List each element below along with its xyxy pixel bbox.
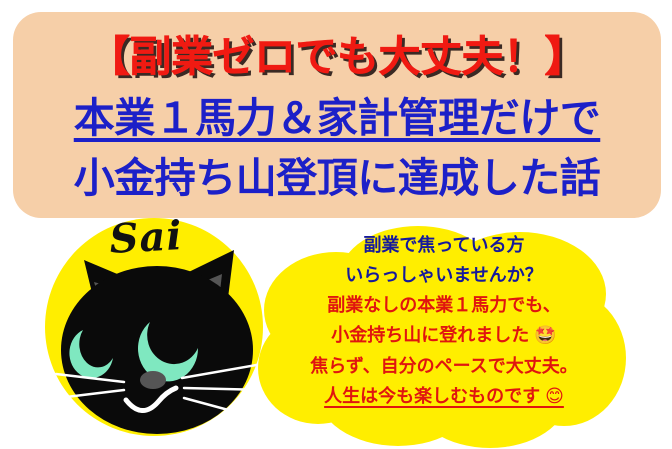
cat-mascot-illustration — [38, 222, 274, 444]
banner-headline-1: 【副業ゼロでも大丈夫！】 — [13, 36, 661, 78]
banner-headline-2: 本業１馬力＆家計管理だけで — [13, 98, 661, 139]
cat-nose — [140, 371, 166, 389]
banner-headline-3: 小金持ち山登頂に達成した話 — [13, 158, 661, 199]
poster-canvas: 【副業ゼロでも大丈夫！】 本業１馬力＆家計管理だけで 小金持ち山登頂に達成した話… — [0, 0, 672, 449]
header-banner: 【副業ゼロでも大丈夫！】 本業１馬力＆家計管理だけで 小金持ち山登頂に達成した話 — [13, 12, 661, 218]
speech-cloud-shape — [258, 218, 630, 449]
